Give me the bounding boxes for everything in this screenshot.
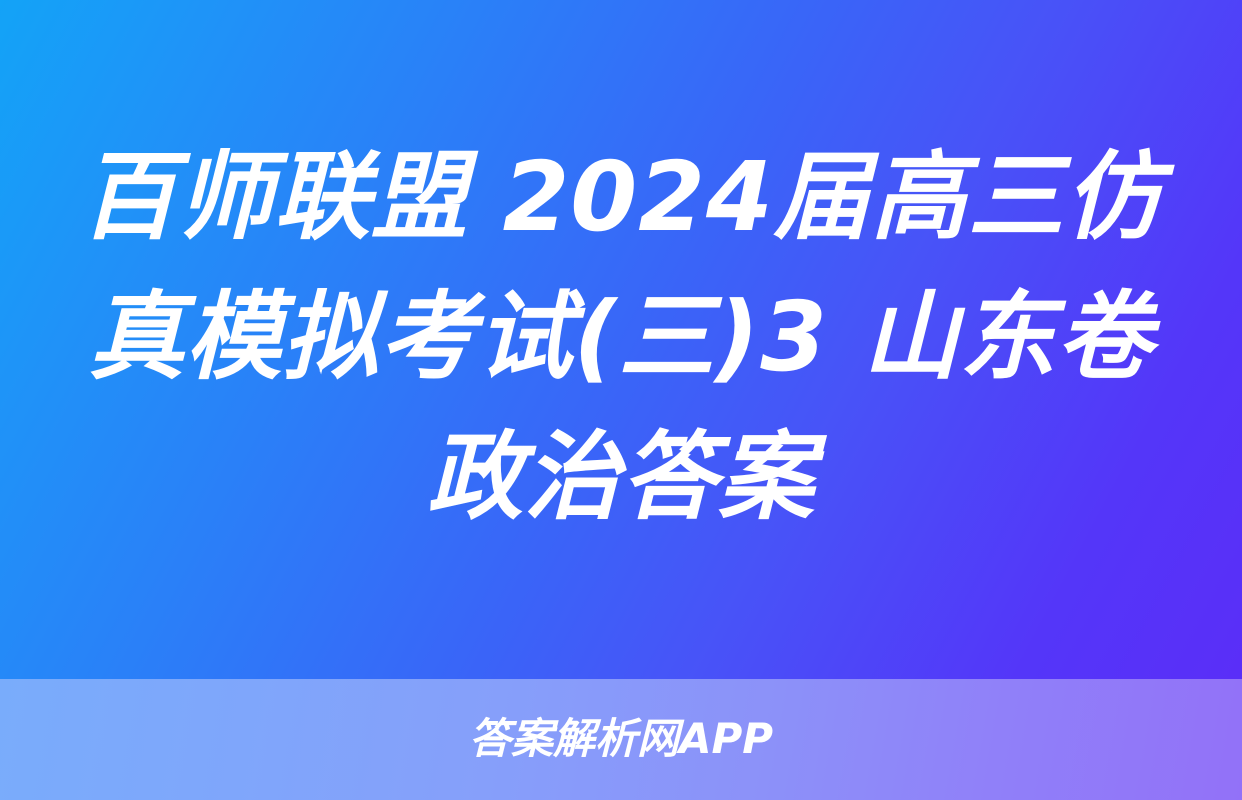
watermark-text: 答案解析网APP [469, 715, 773, 765]
hero-gradient-banner: 百师联盟 2024届高三仿真模拟考试(三)3 山东卷政治答案 [0, 0, 1242, 679]
page-title: 百师联盟 2024届高三仿真模拟考试(三)3 山东卷政治答案 [66, 127, 1176, 553]
poster-canvas: 百师联盟 2024届高三仿真模拟考试(三)3 山东卷政治答案 答案解析网APP [0, 0, 1242, 800]
watermark-band: 答案解析网APP [0, 679, 1242, 800]
